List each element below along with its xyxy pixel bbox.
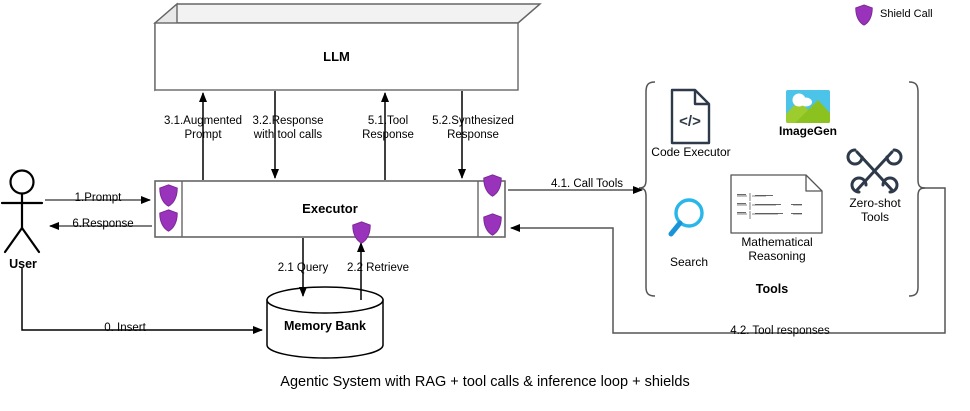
tool-label-imagegen: ImageGen — [766, 125, 850, 139]
formula-document-icon — [731, 175, 822, 233]
legend-label-shield-call: Shield Call — [880, 8, 970, 22]
user-actor — [2, 171, 42, 253]
edge-insert — [22, 268, 262, 330]
crossed-wrenches-icon — [848, 150, 901, 192]
image-icon — [786, 90, 830, 123]
tool-label-mathematical-reasoning: Mathematical Reasoning — [724, 236, 830, 263]
edge-label-tool-responses: 4.2. Tool responses — [660, 325, 900, 339]
memory-bank-label: Memory Bank — [267, 320, 383, 334]
edge-label-insert: 0. Insert — [60, 322, 190, 336]
tool-label-search: Search — [652, 256, 726, 270]
svg-text:</>: </> — [679, 113, 701, 130]
code-document-icon: </> — [672, 90, 709, 143]
edge-label-synthesized-response: 5.2.Synthesized Response — [410, 115, 536, 142]
edge-label-retrieve: 2.2 Retrieve — [323, 262, 433, 276]
executor-label: Executor — [182, 202, 478, 216]
edge-label-call-tools: 4.1. Call Tools — [537, 178, 637, 192]
edge-label-prompt: 1.Prompt — [48, 192, 148, 206]
tool-label-code-executor: Code Executor — [645, 146, 737, 160]
tools-group-label: Tools — [722, 283, 822, 297]
diagram-caption: Agentic System with RAG + tool calls & i… — [0, 374, 970, 390]
user-label: User — [0, 258, 46, 272]
diagram-canvas: </> — [0, 0, 970, 411]
magnifier-icon — [671, 200, 702, 234]
tool-label-zero-shot-tools: Zero-shot Tools — [836, 197, 914, 224]
llm-node — [155, 4, 540, 90]
llm-label: LLM — [155, 50, 518, 64]
shield-icon-memory — [353, 222, 370, 243]
edge-label-response: 6.Response — [48, 218, 158, 232]
edge-label-response-with-tool-calls: 3.2.Response with tool calls — [228, 115, 348, 142]
shield-icon-legend — [856, 5, 873, 25]
